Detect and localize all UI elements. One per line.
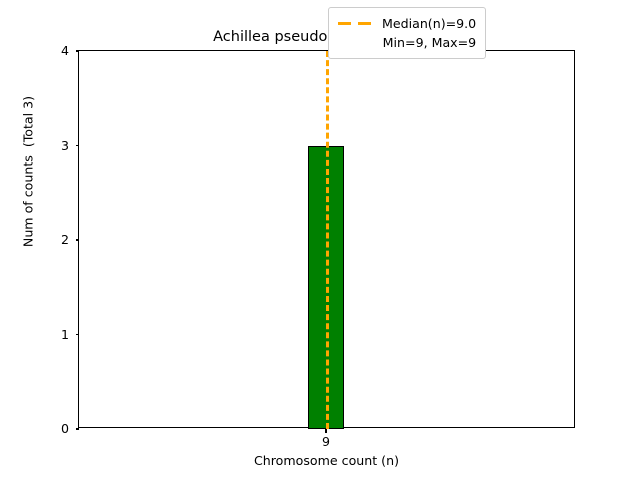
matplotlib-figure: Achillea pseudopectinata Janka Num of co… (0, 0, 640, 480)
y-tick-label: 1 (47, 327, 69, 343)
legend: Median(n)=9.0 Min=9, Max=9 (328, 7, 486, 59)
legend-entry-median: Median(n)=9.0 (337, 14, 476, 33)
y-tick-label: 3 (47, 138, 69, 154)
y-tick-label: 4 (47, 43, 69, 59)
dashed-line-icon (337, 18, 373, 29)
x-tick-mark (325, 429, 326, 433)
y-tick-mark (76, 239, 80, 240)
median-line (326, 51, 329, 429)
x-tick-label: 9 (302, 434, 350, 450)
page-title: Achillea pseudopectinata Janka (78, 29, 575, 46)
y-tick-mark (76, 50, 80, 51)
y-tick-mark (76, 145, 80, 146)
legend-label-median: Median(n)=9.0 (382, 16, 476, 31)
plot-area: 0 1 2 3 4 9 (78, 50, 575, 428)
legend-entry-minmax: Min=9, Max=9 (337, 33, 476, 52)
y-tick-label: 2 (47, 232, 69, 248)
x-axis-label: Chromosome count (n) (78, 453, 575, 468)
y-tick-mark (76, 428, 80, 429)
y-tick-mark (76, 334, 80, 335)
legend-label-minmax: Min=9, Max=9 (383, 35, 477, 50)
y-axis-label: Num of counts (Total 3) (21, 0, 36, 362)
y-tick-label: 0 (47, 421, 69, 437)
